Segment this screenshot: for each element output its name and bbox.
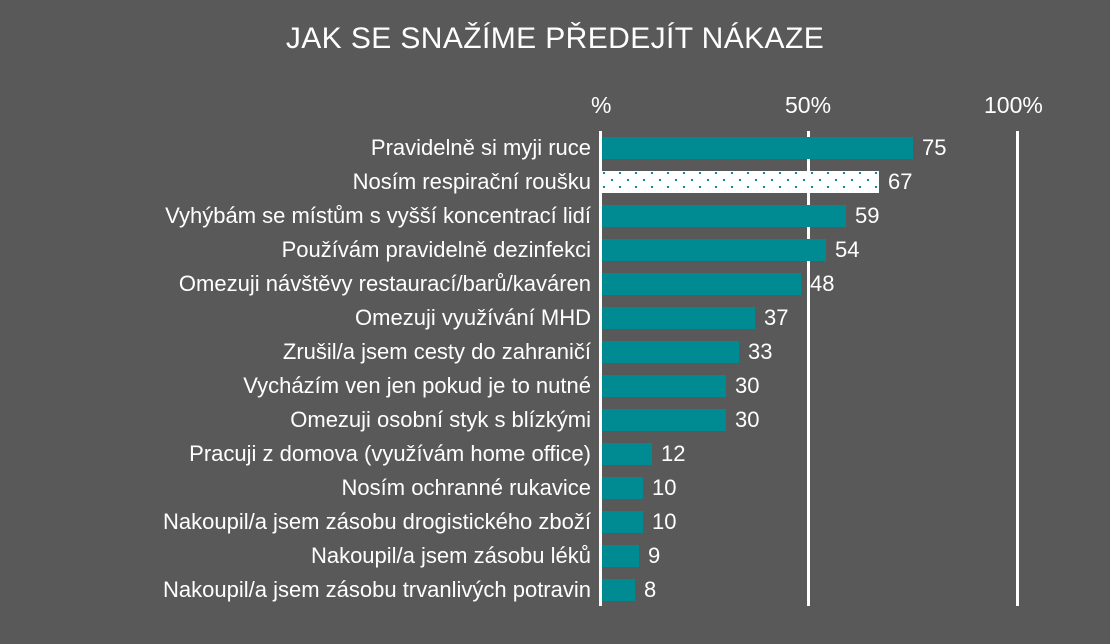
bar-row: Zrušil/a jsem cesty do zahraničí33 xyxy=(0,335,1110,369)
bar-container xyxy=(602,579,635,601)
bar-container xyxy=(602,239,826,261)
category-label: Nosím ochranné rukavice xyxy=(0,471,591,505)
category-label: Nakoupil/a jsem zásobu trvanlivých potra… xyxy=(0,573,591,607)
bar-container xyxy=(602,545,639,567)
bar-row: Pracuji z domova (využívám home office)1… xyxy=(0,437,1110,471)
bar xyxy=(602,341,739,363)
category-label: Omezuji návštěvy restaurací/barů/kaváren xyxy=(0,267,591,301)
category-label: Zrušil/a jsem cesty do zahraničí xyxy=(0,335,591,369)
category-label: Nakoupil/a jsem zásobu léků xyxy=(0,539,591,573)
bar xyxy=(602,205,846,227)
bar-container xyxy=(602,443,652,465)
category-label: Pracuji z domova (využívám home office) xyxy=(0,437,591,471)
bar-container xyxy=(602,171,879,193)
bar-container xyxy=(602,137,913,159)
bar-row: Nakoupil/a jsem zásobu drogistického zbo… xyxy=(0,505,1110,539)
bar-row: Nosím ochranné rukavice10 xyxy=(0,471,1110,505)
bar-container xyxy=(602,307,755,329)
bar-row: Omezuji využívání MHD37 xyxy=(0,301,1110,335)
bar-value-label: 30 xyxy=(735,369,759,403)
bar-row: Pravidelně si myji ruce75 xyxy=(0,131,1110,165)
bar-container xyxy=(602,409,726,431)
bar-container xyxy=(602,477,643,499)
bar xyxy=(602,443,652,465)
bar-container xyxy=(602,205,846,227)
bar-container xyxy=(602,375,726,397)
x-axis-tick-100: 100% xyxy=(984,92,1043,119)
bar-value-label: 30 xyxy=(735,403,759,437)
bar-container xyxy=(602,273,801,295)
bar-value-label: 48 xyxy=(810,267,834,301)
bar-row: Nosím respirační roušku67 xyxy=(0,165,1110,199)
bar-row: Nakoupil/a jsem zásobu trvanlivých potra… xyxy=(0,573,1110,607)
category-label: Nakoupil/a jsem zásobu drogistického zbo… xyxy=(0,505,591,539)
bar-row: Vycházím ven jen pokud je to nutné30 xyxy=(0,369,1110,403)
bar xyxy=(602,545,639,567)
bar-value-label: 67 xyxy=(888,165,912,199)
bar-row: Omezuji návštěvy restaurací/barů/kaváren… xyxy=(0,267,1110,301)
bar xyxy=(602,477,643,499)
bar-value-label: 33 xyxy=(748,335,772,369)
chart-title: JAK SE SNAŽÍME PŘEDEJÍT NÁKAZE xyxy=(0,22,1110,56)
bar-row: Omezuji osobní styk s blízkými30 xyxy=(0,403,1110,437)
bar-chart: JAK SE SNAŽÍME PŘEDEJÍT NÁKAZE % 50% 100… xyxy=(0,0,1110,644)
bar-value-label: 10 xyxy=(652,505,676,539)
bar-value-label: 12 xyxy=(661,437,685,471)
bar-container xyxy=(602,341,739,363)
category-label: Vycházím ven jen pokud je to nutné xyxy=(0,369,591,403)
bar-rows: Pravidelně si myji ruce75Nosím respiračn… xyxy=(0,131,1110,609)
bar xyxy=(602,307,755,329)
category-label: Omezuji osobní styk s blízkými xyxy=(0,403,591,437)
bar xyxy=(602,171,879,193)
category-label: Nosím respirační roušku xyxy=(0,165,591,199)
category-label: Vyhýbám se místům s vyšší koncentrací li… xyxy=(0,199,591,233)
bar-row: Nakoupil/a jsem zásobu léků9 xyxy=(0,539,1110,573)
bar xyxy=(602,579,635,601)
bar xyxy=(602,239,826,261)
bar xyxy=(602,511,643,533)
bar-value-label: 75 xyxy=(922,131,946,165)
bar-value-label: 9 xyxy=(648,539,660,573)
bar-value-label: 54 xyxy=(835,233,859,267)
bar-value-label: 8 xyxy=(644,573,656,607)
bar-row: Používám pravidelně dezinfekci54 xyxy=(0,233,1110,267)
bar-value-label: 59 xyxy=(855,199,879,233)
x-axis-tick-0: % xyxy=(591,92,611,119)
bar xyxy=(602,273,801,295)
bar-value-label: 10 xyxy=(652,471,676,505)
bar-value-label: 37 xyxy=(764,301,788,335)
bar xyxy=(602,375,726,397)
x-axis-tick-50: 50% xyxy=(785,92,831,119)
bar-row: Vyhýbám se místům s vyšší koncentrací li… xyxy=(0,199,1110,233)
bar xyxy=(602,137,913,159)
category-label: Používám pravidelně dezinfekci xyxy=(0,233,591,267)
bar xyxy=(602,409,726,431)
bar-container xyxy=(602,511,643,533)
category-label: Omezuji využívání MHD xyxy=(0,301,591,335)
category-label: Pravidelně si myji ruce xyxy=(0,131,591,165)
